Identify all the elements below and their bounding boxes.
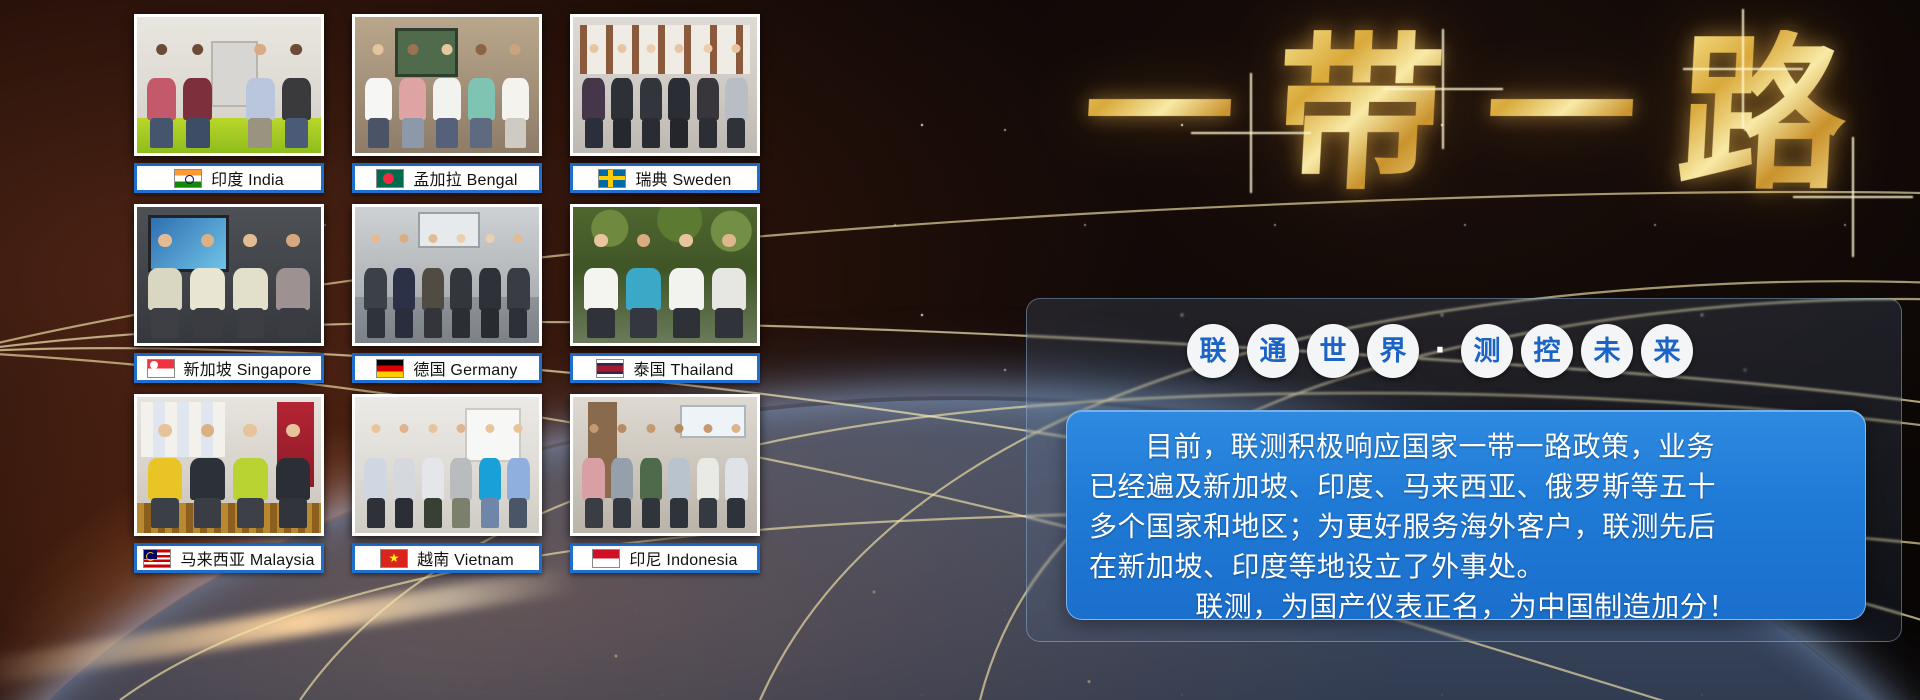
flag-bangladesh-icon	[376, 169, 404, 188]
photo-thumbnail[interactable]	[134, 204, 324, 346]
description-line: 在新加坡、印度等地设立了外事处。	[1089, 547, 1843, 587]
photo-image-malaysia	[137, 397, 321, 533]
photo-card-sweden[interactable]: 瑞典 Sweden	[570, 14, 760, 196]
photo-thumbnail[interactable]	[570, 14, 760, 156]
photo-card-thailand[interactable]: 泰国 Thailand	[570, 204, 760, 386]
country-label-text: 印尼 Indonesia	[629, 546, 737, 570]
country-label-text: 泰国 Thailand	[633, 356, 733, 380]
description-line: 联测，为国产仪表正名，为中国制造加分！	[1089, 587, 1843, 627]
country-label-indonesia[interactable]: 印尼 Indonesia	[570, 543, 760, 573]
flag-sweden-icon	[598, 169, 626, 188]
slogan-char-4: 界	[1367, 324, 1419, 378]
country-label-text: 新加坡 Singapore	[184, 356, 312, 380]
photo-thumbnail[interactable]	[570, 204, 760, 346]
photo-thumbnail[interactable]	[352, 14, 542, 156]
slogan-char-6: 控	[1521, 324, 1573, 378]
country-label-text: 印度 India	[211, 166, 284, 190]
photo-card-singapore[interactable]: 新加坡 Singapore	[134, 204, 324, 386]
description-line: 多个国家和地区；为更好服务海外客户，联测先后	[1089, 507, 1843, 547]
photo-image-singapore	[137, 207, 321, 343]
photo-card-germany[interactable]: 德国 Germany	[352, 204, 542, 386]
photo-card-india[interactable]: 印度 India	[134, 14, 324, 196]
photo-image-india	[137, 17, 321, 153]
sparkle-icon	[1852, 196, 1854, 198]
country-label-text: 瑞典 Sweden	[635, 166, 731, 190]
flag-thailand-icon	[596, 359, 624, 378]
belt-and-road-title: 一 带 一 路	[1030, 6, 1900, 221]
flag-vietnam-icon	[380, 549, 408, 568]
country-label-text: 孟加拉 Bengal	[413, 166, 517, 190]
sparkle-icon	[1442, 88, 1444, 90]
photo-thumbnail[interactable]	[134, 394, 324, 536]
country-label-vietnam[interactable]: 越南 Vietnam	[352, 543, 542, 573]
country-photo-grid: 印度 India 孟加拉	[134, 14, 764, 586]
photo-thumbnail[interactable]	[352, 204, 542, 346]
flag-india-icon	[174, 169, 202, 188]
slogan-separator-dot: ·	[1427, 324, 1453, 378]
flag-malaysia-icon	[143, 549, 171, 568]
slogan-char-8: 来	[1641, 324, 1693, 378]
photo-image-thailand	[573, 207, 757, 343]
slogan-char-2: 通	[1247, 324, 1299, 378]
country-label-germany[interactable]: 德国 Germany	[352, 353, 542, 383]
photo-card-malaysia[interactable]: 马来西亚 Malaysia	[134, 394, 324, 576]
flag-singapore-icon	[147, 359, 175, 378]
description-line: 已经遍及新加坡、印度、马来西亚、俄罗斯等五十	[1089, 467, 1843, 507]
photo-thumbnail[interactable]	[352, 394, 542, 536]
photo-card-bangladesh[interactable]: 孟加拉 Bengal	[352, 14, 542, 196]
photo-card-indonesia[interactable]: 印尼 Indonesia	[570, 394, 760, 576]
title-char-2: 带	[1272, 30, 1449, 198]
country-label-bangladesh[interactable]: 孟加拉 Bengal	[352, 163, 542, 193]
country-label-text: 马来西亚 Malaysia	[180, 546, 314, 570]
photo-card-vietnam[interactable]: 越南 Vietnam	[352, 394, 542, 576]
title-char-1: 一	[1080, 39, 1238, 189]
country-label-malaysia[interactable]: 马来西亚 Malaysia	[134, 543, 324, 573]
slogan-char-7: 未	[1581, 324, 1633, 378]
description-line: 目前，联测积极响应国家一带一路政策，业务	[1089, 427, 1843, 467]
country-label-sweden[interactable]: 瑞典 Sweden	[570, 163, 760, 193]
country-label-india[interactable]: 印度 India	[134, 163, 324, 193]
flag-indonesia-icon	[592, 549, 620, 568]
photo-thumbnail[interactable]	[570, 394, 760, 536]
slogan-char-5: 测	[1461, 324, 1513, 378]
slogan-char-1: 联	[1187, 324, 1239, 378]
flag-germany-icon	[376, 359, 404, 378]
company-slogan: 联 通 世 界 · 测 控 未 来	[1170, 322, 1710, 380]
company-description-box: 目前，联测积极响应国家一带一路政策，业务 已经遍及新加坡、印度、马来西亚、俄罗斯…	[1066, 410, 1866, 620]
photo-image-sweden	[573, 17, 757, 153]
photo-image-indonesia	[573, 397, 757, 533]
title-char-3: 一	[1482, 39, 1640, 189]
country-label-thailand[interactable]: 泰国 Thailand	[570, 353, 760, 383]
photo-image-vietnam	[355, 397, 539, 533]
photo-image-bangladesh	[355, 17, 539, 153]
title-char-4: 路	[1674, 30, 1851, 198]
sparkle-icon	[1250, 132, 1252, 134]
photo-thumbnail[interactable]	[134, 14, 324, 156]
country-label-text: 德国 Germany	[413, 356, 517, 380]
photo-image-germany	[355, 207, 539, 343]
country-label-singapore[interactable]: 新加坡 Singapore	[134, 353, 324, 383]
country-label-text: 越南 Vietnam	[417, 546, 514, 570]
banner-stage: 印度 India 孟加拉	[0, 0, 1920, 700]
sparkle-icon	[1742, 68, 1744, 70]
slogan-char-3: 世	[1307, 324, 1359, 378]
